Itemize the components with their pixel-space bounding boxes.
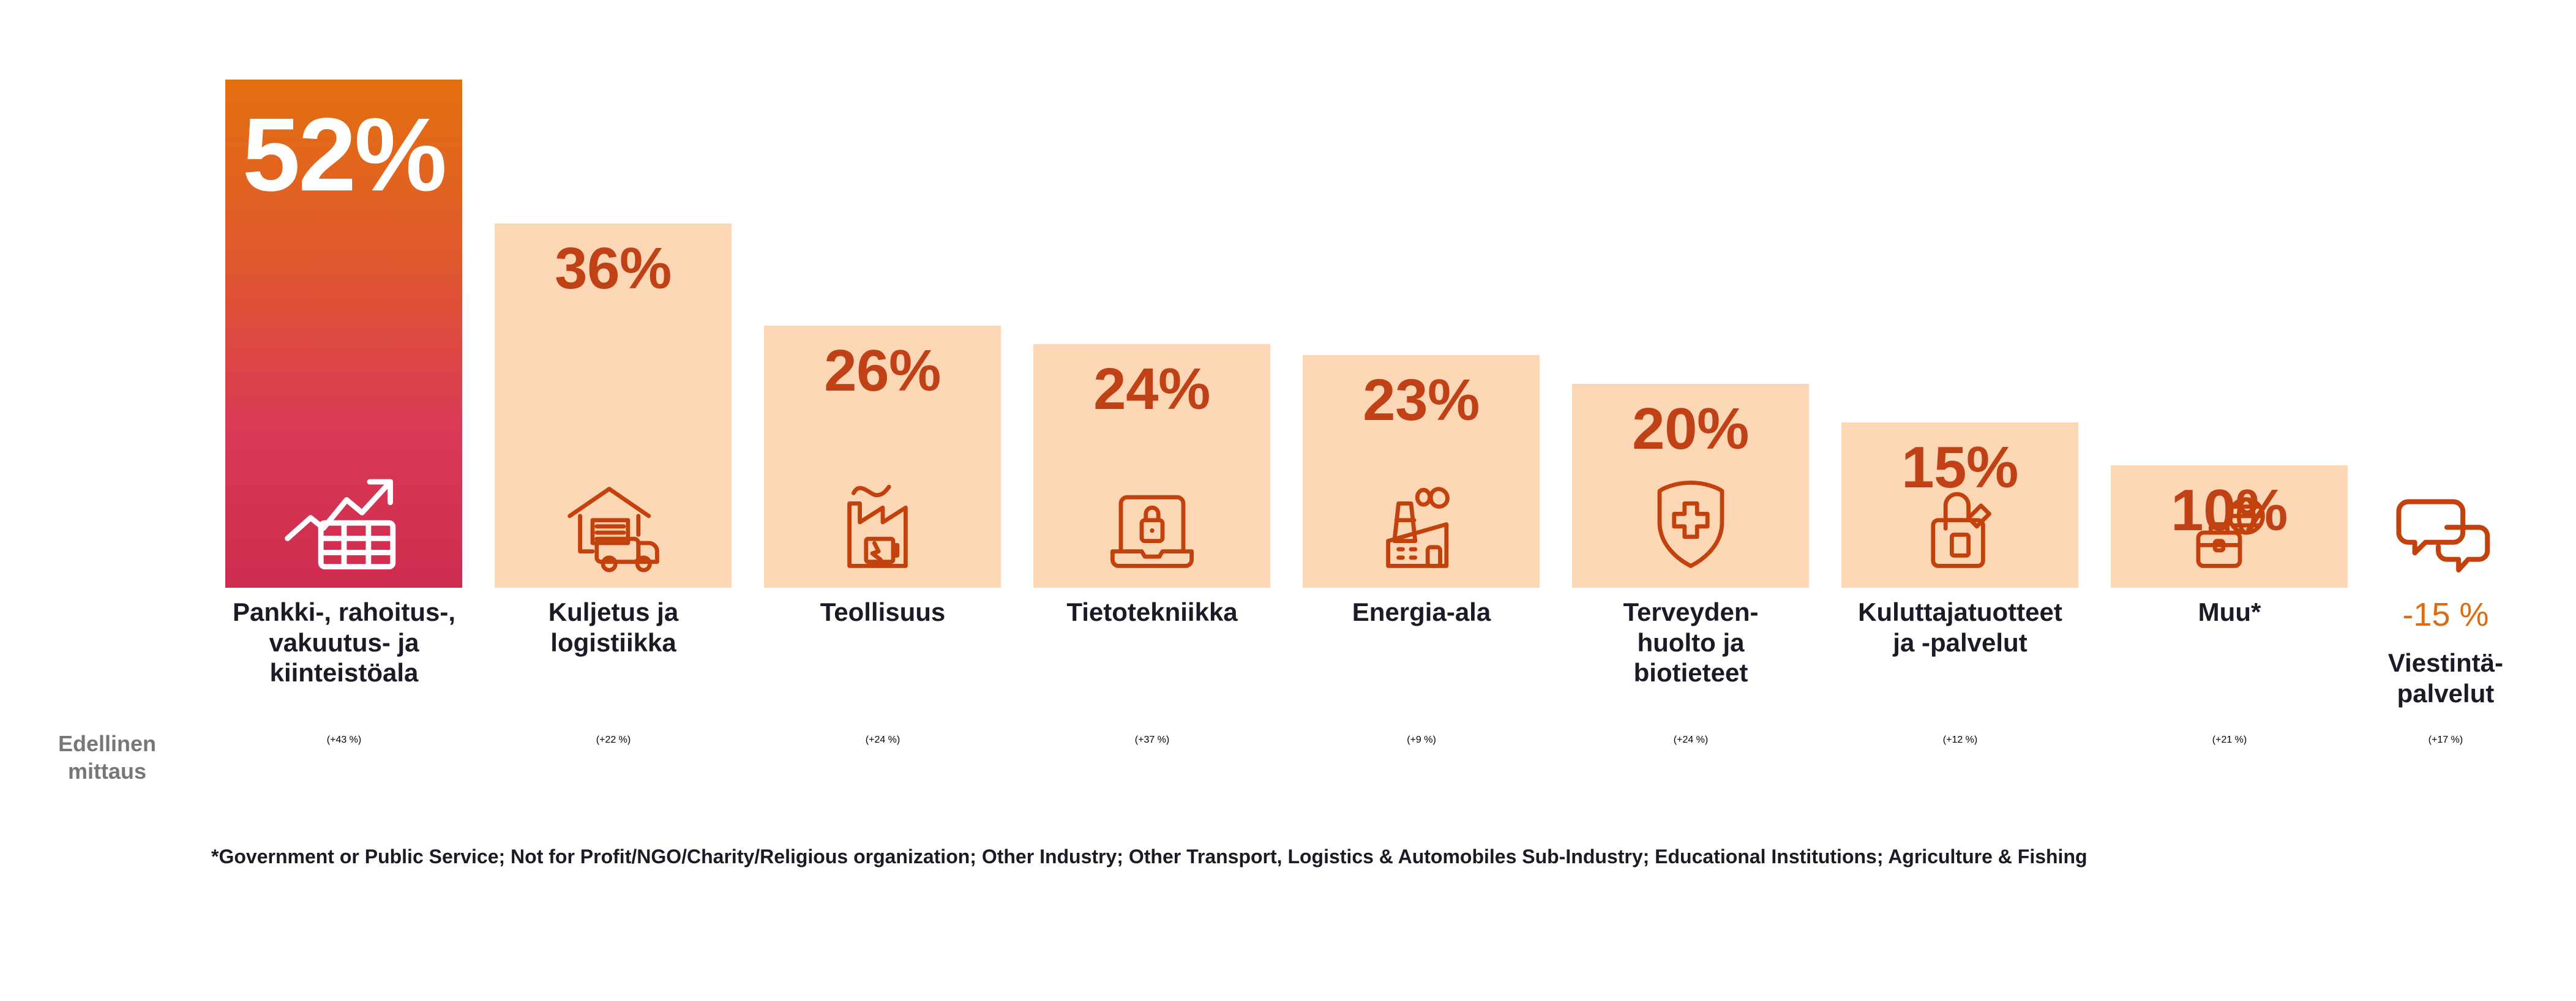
bar-column-7: 15%	[1841, 422, 2078, 588]
bar-4[interactable]: 24%	[1033, 344, 1270, 588]
bar-6[interactable]: 20%	[1572, 384, 1809, 588]
negative-value-9: -15 %	[2317, 597, 2574, 633]
label-line: ja -palvelut	[1893, 628, 2027, 657]
shopping-bag-icon	[1908, 470, 2012, 574]
warehouse-truck-icon	[561, 470, 665, 574]
category-label-1: Pankki-, rahoitus-, vakuutus- ja kiintei…	[215, 597, 473, 688]
previous-measurement-line2: mittaus	[68, 759, 146, 784]
laptop-lock-icon	[1100, 470, 1204, 574]
previous-value-4: (+37 %)	[1135, 735, 1169, 745]
bar-column-8: 10%	[2111, 465, 2348, 588]
category-label-2: Kuljetus ja logistiikka	[485, 597, 742, 658]
bar-value-2: 36%	[555, 239, 672, 298]
bar-column-5: 23%	[1303, 355, 1540, 588]
bar-column-1: 52%	[225, 80, 462, 588]
bar-value-3: 26%	[824, 342, 941, 400]
category-label-4: Tietotekniikka	[1024, 597, 1281, 628]
previous-value-6: (+24 %)	[1674, 735, 1708, 745]
category-label-9: -15 % Viestintä- palvelut	[2317, 597, 2574, 708]
label-line: Muu*	[2198, 598, 2261, 626]
label-line: huolto ja	[1638, 628, 1745, 657]
bar-3[interactable]: 26%	[764, 326, 1001, 588]
infographic-bar-chart: 52% 36%	[0, 0, 2576, 1001]
bar-value-6: 20%	[1632, 400, 1749, 459]
bar-value-1: 52%	[242, 103, 445, 207]
previous-value-5: (+9 %)	[1407, 735, 1436, 745]
previous-value-1: (+43 %)	[327, 735, 361, 745]
label-line: Kuluttajatuotteet	[1858, 598, 2062, 626]
bar-1[interactable]: 52%	[225, 80, 462, 588]
previous-value-7: (+12 %)	[1943, 735, 1977, 745]
label-line: Terveyden-	[1623, 598, 1759, 626]
label-line: Pankki-, rahoitus-,	[233, 598, 455, 626]
bar-2[interactable]: 36%	[495, 223, 732, 588]
bar-column-4: 24%	[1033, 344, 1270, 588]
label-line: logistiikka	[550, 628, 676, 657]
label-line: palvelut	[2397, 679, 2495, 708]
bar-column-3: 26%	[764, 326, 1001, 588]
bar-8[interactable]: 10%	[2111, 465, 2348, 588]
category-label-3: Teollisuus	[754, 597, 1011, 628]
bar-value-4: 24%	[1093, 360, 1210, 419]
bar-column-9	[2326, 441, 2563, 588]
factory-battery-icon	[831, 470, 935, 574]
label-line: Kuljetus ja	[549, 598, 678, 626]
briefcase-globe-icon	[2177, 470, 2282, 574]
bar-7[interactable]: 15%	[1841, 422, 2078, 588]
bar-5[interactable]: 23%	[1303, 355, 1540, 588]
bar-value-5: 23%	[1363, 371, 1480, 430]
label-line: biotieteet	[1634, 658, 1748, 687]
previous-value-3: (+24 %)	[866, 735, 900, 745]
previous-measurement-label: Edellinen mittaus	[28, 730, 187, 785]
category-labels: Pankki-, rahoitus-, vakuutus- ja kiintei…	[0, 597, 2576, 781]
power-plant-icon	[1369, 470, 1473, 574]
previous-value-2: (+22 %)	[596, 735, 631, 745]
label-line: Teollisuus	[820, 598, 946, 626]
speech-bubbles-icon	[2391, 491, 2498, 583]
footnote: *Government or Public Service; Not for P…	[211, 842, 2446, 871]
label-line: Viestintä-	[2388, 648, 2503, 677]
chart-growth-icon	[280, 443, 408, 572]
bar-column-6: 20%	[1572, 384, 1809, 588]
category-label-6: Terveyden- huolto ja biotieteet	[1562, 597, 1819, 688]
label-line: vakuutus- ja	[269, 628, 419, 657]
bar-column-2: 36%	[495, 223, 732, 588]
previous-value-8: (+21 %)	[2212, 735, 2247, 745]
label-line: Tietotekniikka	[1066, 598, 1237, 626]
category-label-5: Energia-ala	[1293, 597, 1550, 628]
previous-value-9: (+17 %)	[2428, 735, 2463, 745]
label-line: Energia-ala	[1352, 598, 1491, 626]
chart-plot-area: 52% 36%	[0, 0, 2576, 588]
label-line: kiinteistöala	[270, 658, 419, 687]
category-label-7: Kuluttajatuotteet ja -palvelut	[1832, 597, 2089, 658]
medical-shield-icon	[1639, 470, 1743, 574]
previous-measurement-line1: Edellinen	[58, 731, 156, 756]
